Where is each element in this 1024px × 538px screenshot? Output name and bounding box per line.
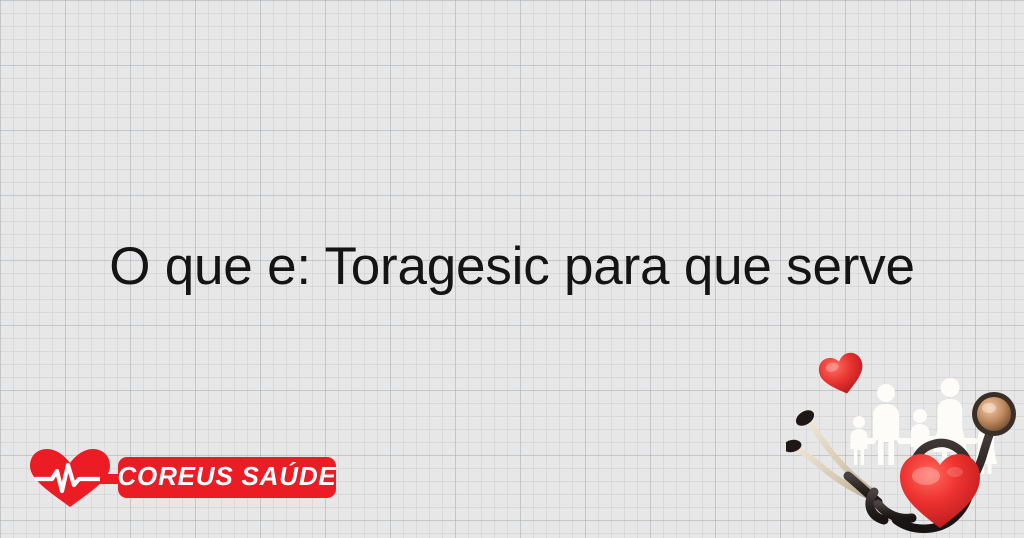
stethoscope-heart-family-illustration [786, 352, 1024, 538]
brand-name-label: COREUS SAÚDE [117, 461, 336, 492]
brand-badge[interactable]: COREUS SAÚDE [118, 457, 336, 498]
brand-logo[interactable]: COREUS SAÚDE [28, 447, 358, 509]
small-heart-icon [816, 352, 868, 399]
slide-canvas: O que e: Toragesic para que serve COREUS… [0, 0, 1024, 538]
page-title: O que e: Toragesic para que serve [0, 236, 1024, 298]
stethoscope-chestpiece [972, 392, 1016, 436]
